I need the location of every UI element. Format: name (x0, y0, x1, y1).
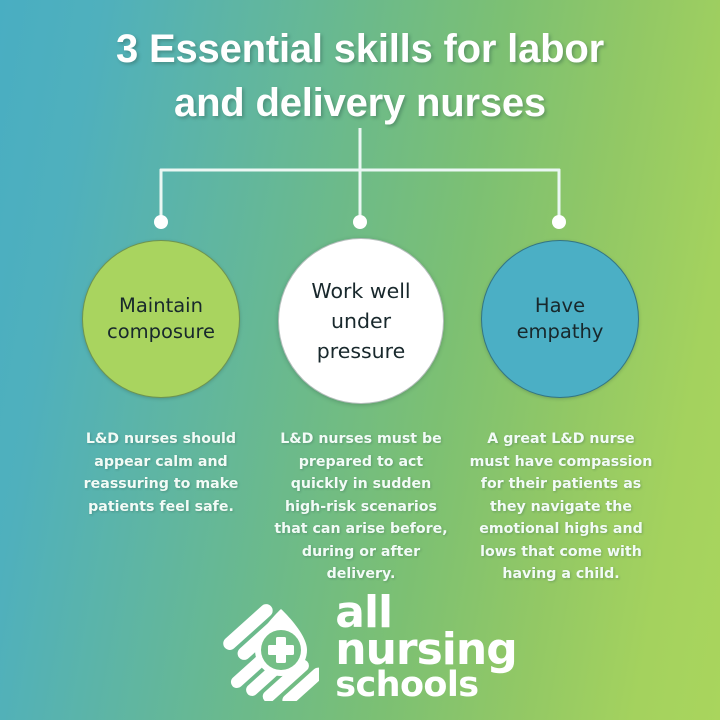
connector-dot-3 (552, 215, 566, 229)
brand-logo: all nursing schools (0, 588, 720, 706)
skill-circle-maintain-composure[interactable]: Maintain composure (82, 240, 240, 398)
skill-circle-label: Maintain composure (83, 293, 239, 345)
skill-caption-work-well-under-pressure: L&D nurses must be prepared to act quick… (268, 428, 454, 586)
skill-circles-row: Maintain composure Work well under press… (0, 240, 720, 402)
infographic-poster: 3 Essential skills for labor and deliver… (0, 0, 720, 720)
brand-logo-wordmark: all nursing schools (335, 592, 516, 702)
page-title-line-1: 3 Essential skills for labor (55, 22, 665, 76)
skill-circle-have-empathy[interactable]: Have empathy (481, 240, 639, 398)
brand-word-nursing: nursing (335, 631, 516, 668)
page-title-line-2: and delivery nurses (55, 76, 665, 130)
page-title: 3 Essential skills for labor and deliver… (0, 22, 720, 130)
connector-dot-2 (353, 215, 367, 229)
skill-caption-have-empathy: A great L&D nurse must have compassion f… (466, 428, 656, 586)
caring-hands-cross-icon (203, 593, 319, 701)
skill-circle-label: Have empathy (482, 293, 638, 345)
connector-dot-1 (154, 215, 168, 229)
skill-captions-row: L&D nurses should appear calm and reassu… (0, 428, 720, 588)
skill-circle-label: Work well under pressure (279, 276, 443, 366)
skill-circle-work-well-under-pressure[interactable]: Work well under pressure (278, 238, 444, 404)
connector-bracket (0, 128, 720, 238)
skill-caption-maintain-composure: L&D nurses should appear calm and reassu… (75, 428, 247, 518)
